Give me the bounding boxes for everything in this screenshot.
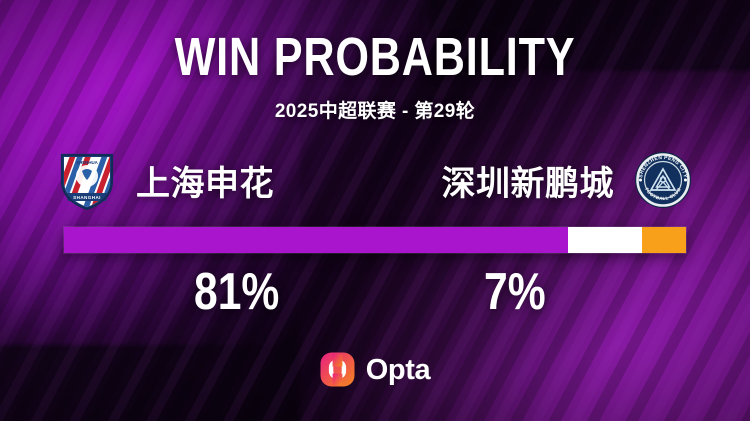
- home-team: SHENHUA SHANGHAI 上海申花: [56, 149, 274, 211]
- opta-logo-icon: [320, 352, 355, 387]
- home-win-percentage: 81%: [194, 262, 279, 322]
- opta-branding: Opta: [0, 352, 750, 387]
- percentage-row: 81% 7%: [64, 262, 686, 326]
- bar-segment-draw: [568, 227, 643, 253]
- win-probability-graphic: WIN PROBABILITY 2025中超联赛 - 第29轮: [0, 0, 750, 421]
- win-probability-bar: [64, 227, 686, 253]
- teams-row: SHENHUA SHANGHAI 上海申花 深圳新鹏城: [56, 144, 694, 216]
- away-team-name: 深圳新鹏城: [442, 156, 615, 205]
- home-team-name: 上海申花: [136, 156, 274, 205]
- page-subtitle: 2025中超联赛 - 第29轮: [0, 100, 750, 124]
- bar-segment-away-win: [642, 227, 686, 253]
- page-title: WIN PROBABILITY: [75, 28, 675, 86]
- away-win-percentage: 7%: [484, 262, 546, 322]
- shenzhen-peng-city-crest-icon: SHENZHEN PENG CITY FOOTBALL CLUB: [632, 149, 694, 211]
- shanghai-shenhua-crest-icon: SHENHUA SHANGHAI: [56, 149, 118, 211]
- opta-wordmark: Opta: [366, 354, 430, 386]
- away-team: 深圳新鹏城 SHENZHEN PENG CITY: [442, 149, 695, 211]
- bar-segment-home-win: [64, 227, 568, 253]
- svg-text:SHENHUA: SHENHUA: [76, 160, 99, 165]
- svg-text:SHANGHAI: SHANGHAI: [73, 195, 101, 200]
